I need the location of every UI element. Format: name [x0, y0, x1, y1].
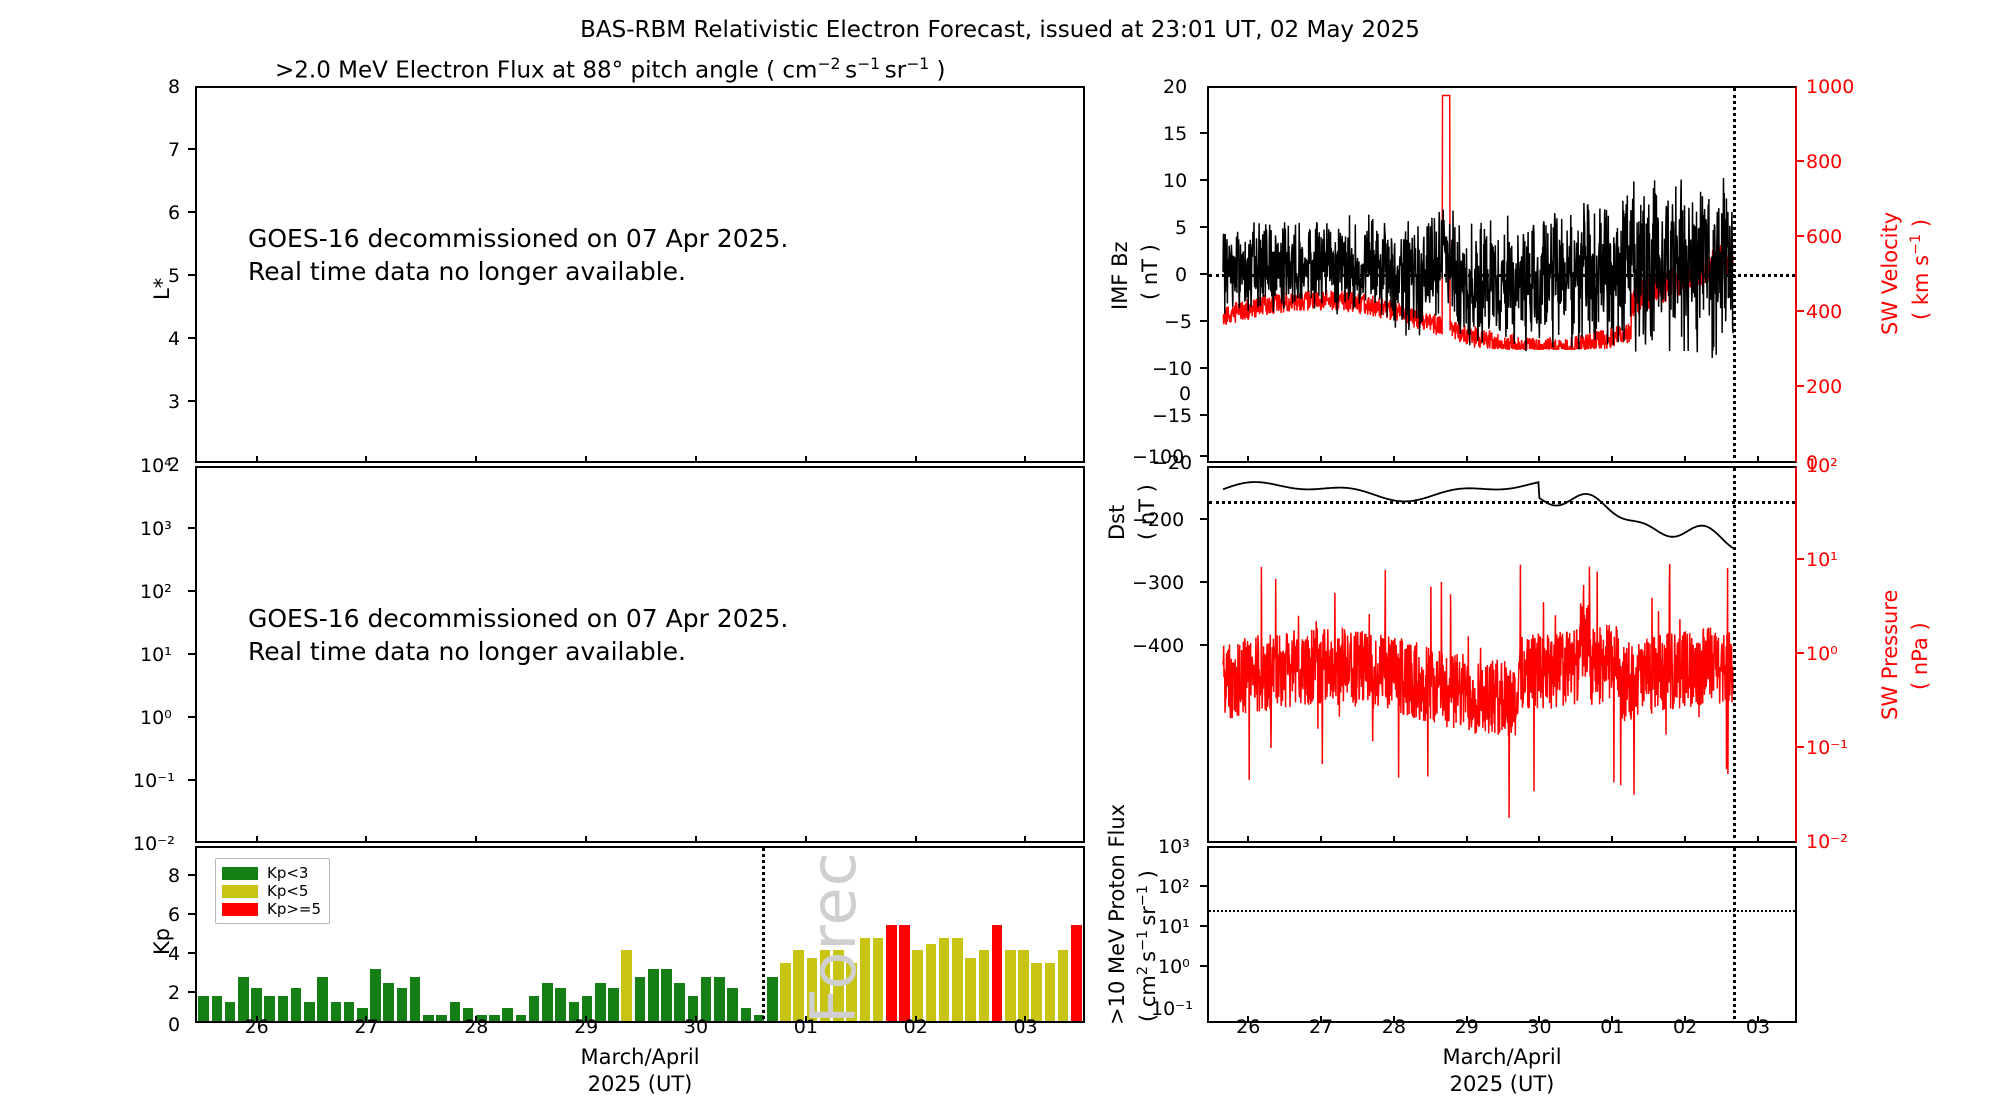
legend-swatch-yellow-icon [222, 885, 258, 898]
kp-bar [529, 996, 540, 1021]
kp-bar [621, 950, 632, 1021]
legend-item-kp-mid: Kp<5 [222, 882, 321, 900]
kp-bar [635, 977, 646, 1021]
kp-bar [304, 1002, 315, 1021]
dst-ytick-m400: −400 [1132, 637, 1184, 656]
bz-ytick-m5: −5 [1164, 313, 1192, 332]
dst-forecast-boundary-line [1733, 468, 1736, 843]
figure-root: BAS-RBM Relativistic Electron Forecast, … [0, 0, 2000, 1100]
legend-label-kp-high: Kp>=5 [267, 902, 321, 917]
kp-bar [331, 1002, 342, 1021]
kp-ytick-8: 8 [168, 867, 180, 886]
legend-swatch-green-icon [222, 867, 258, 880]
flux-no-data-message: GOES-16 decommissioned on 07 Apr 2025. R… [248, 602, 788, 668]
swp-ytick-1e2: 10² [1806, 457, 1838, 476]
kp-bar [608, 988, 619, 1021]
figure-title: BAS-RBM Relativistic Electron Forecast, … [0, 17, 2000, 43]
dst-ytick-m100: −100 [1132, 448, 1184, 467]
left-xaxis-label-line2: 2025 (UT) [195, 1072, 1085, 1096]
lstar-ytick-8: 8 [168, 78, 180, 97]
kp-bar [555, 988, 566, 1021]
kp-bar [212, 996, 223, 1021]
legend-label-kp-low: Kp<3 [267, 866, 308, 881]
dst-ytick-m300: −300 [1132, 574, 1184, 593]
bz-ytick-10: 10 [1163, 172, 1187, 191]
kp-bar [926, 944, 937, 1021]
kp-bar [278, 996, 289, 1021]
kp-bar [701, 977, 712, 1021]
kp-bar [489, 1015, 500, 1021]
kp-bar [291, 988, 302, 1021]
kp-forecast-boundary-line [762, 848, 765, 1023]
swv-ytick-400: 400 [1806, 303, 1842, 322]
imf-bz-axis-label-line1: IMF Bz [1108, 242, 1132, 311]
kp-bar [979, 950, 990, 1021]
kp-bar [661, 969, 672, 1021]
lstar-ytick-7: 7 [168, 141, 180, 160]
panel-imf-bz [1207, 86, 1797, 463]
swp-ytick-1em1: 10⁻¹ [1806, 739, 1848, 758]
proton-axis-label-line2: ( cm2 s−1 sr−1 ) [1135, 870, 1160, 1022]
legend-item-kp-high: Kp>=5 [222, 900, 321, 918]
kp-bar [714, 977, 725, 1021]
proton-ytick-1e1: 10¹ [1158, 918, 1190, 937]
kp-bar [741, 1008, 752, 1021]
kp-bar [317, 977, 328, 1021]
kp-bar [502, 1008, 513, 1021]
right-xaxis-label-line2: 2025 (UT) [1207, 1072, 1797, 1096]
legend-item-kp-low: Kp<3 [222, 864, 321, 882]
degree-symbol: ° [612, 58, 624, 84]
kp-ytick-2: 2 [168, 984, 180, 1003]
kp-bar [397, 988, 408, 1021]
kp-ytick-6: 6 [168, 906, 180, 925]
lstar-no-data-message: GOES-16 decommissioned on 07 Apr 2025. R… [248, 222, 788, 288]
kp-bar [344, 1002, 355, 1021]
swv-ytick-800: 800 [1806, 153, 1842, 172]
flux-ytick-1e3: 10³ [140, 520, 172, 539]
kp-bar [198, 996, 209, 1021]
kp-bar [542, 983, 553, 1021]
kp-bar [873, 938, 884, 1021]
kp-bar [899, 925, 910, 1021]
legend-swatch-red-icon [222, 903, 258, 916]
swv-ytick-1000: 1000 [1806, 78, 1854, 97]
lstar-ytick-3: 3 [168, 393, 180, 412]
proton-forecast-boundary-line [1733, 848, 1736, 1023]
panel-proton-flux [1207, 846, 1797, 1023]
subtitle-text-part: >2.0 MeV Electron Flux at 88 [275, 58, 612, 84]
kp-bar [1058, 950, 1069, 1021]
proton-ytick-1e0: 10⁰ [1158, 958, 1190, 977]
legend-label-kp-mid: Kp<5 [267, 884, 308, 899]
kp-bar [939, 938, 950, 1021]
flux-ytick-1em1: 10⁻¹ [133, 772, 175, 791]
sw-pressure-axis-label-line1: SW Pressure [1878, 590, 1902, 720]
dst-axis-label-line2: ( nT ) [1135, 484, 1159, 540]
sw-pressure-axis-label-line2: ( nPa ) [1908, 622, 1932, 690]
message-line-2: Real time data no longer available. [248, 257, 686, 286]
flux-ytick-1e1: 10¹ [140, 646, 172, 665]
kp-bar [648, 969, 659, 1021]
kp-bar [1005, 950, 1016, 1021]
swp-ytick-1em2: 10⁻² [1806, 833, 1848, 852]
sw-velocity-axis-label-line2: ( km s−1 ) [1908, 219, 1933, 320]
imf-bz-axis-label-line2: ( nT ) [1138, 244, 1162, 300]
kp-bar [450, 1002, 461, 1021]
kp-bar [1031, 963, 1042, 1021]
bz-ytick-m10: −10 [1152, 360, 1192, 379]
kp-bar [780, 963, 791, 1021]
bz-ytick-20: 20 [1163, 78, 1187, 97]
flux-ytick-1e4: 10⁴ [140, 457, 172, 476]
message-line-1: GOES-16 decommissioned on 07 Apr 2025. [248, 224, 788, 253]
kp-bar [965, 958, 976, 1021]
kp-bar [886, 925, 897, 1021]
lstar-ytick-4: 4 [168, 330, 180, 349]
flux-ytick-1e0: 10⁰ [140, 709, 172, 728]
dst-reference-line [1209, 501, 1795, 504]
swv-ytick-200: 200 [1806, 378, 1842, 397]
swp-ytick-1e1: 10¹ [1806, 551, 1838, 570]
kp-bar [370, 969, 381, 1021]
kp-bar [423, 1015, 434, 1021]
kp-ytick-0: 0 [168, 1016, 180, 1035]
kp-bar [383, 983, 394, 1021]
electron-flux-subtitle: >2.0 MeV Electron Flux at 88° pitch angl… [275, 54, 946, 84]
kp-axis-label: Kp [150, 928, 174, 955]
swp-ytick-1e0: 10⁰ [1806, 645, 1838, 664]
kp-bar [225, 1002, 236, 1021]
bz-ytick-5: 5 [1175, 219, 1187, 238]
proton-axis-label-line1: >10 MeV Proton Flux [1105, 804, 1129, 1025]
forecast-watermark: Forecast [797, 846, 870, 1023]
kp-bar [727, 988, 738, 1021]
flux-ytick-1e2: 10² [140, 583, 172, 602]
kp-bar [516, 1015, 527, 1021]
dst-plot-area [1209, 468, 1795, 841]
dst-ytick-0: 0 [1179, 385, 1191, 404]
proton-ytick-1e3: 10³ [1158, 838, 1190, 857]
kp-bar [238, 977, 249, 1021]
sw-velocity-axis-label-line1: SW Velocity [1878, 212, 1902, 335]
flux-ytick-1em2: 10⁻² [133, 835, 175, 854]
right-xaxis-label-line1: March/April [1207, 1045, 1797, 1069]
kp-legend: Kp<3 Kp<5 Kp>=5 [215, 858, 330, 924]
proton-ytick-1e2: 10² [1158, 878, 1190, 897]
lstar-axis-label: L* [150, 278, 174, 300]
kp-bar [1045, 963, 1056, 1021]
kp-bar [992, 925, 1003, 1021]
bz-ytick-15: 15 [1163, 125, 1187, 144]
bz-reference-line [1209, 274, 1795, 277]
swv-ytick-600: 600 [1806, 228, 1842, 247]
kp-bar [436, 1015, 447, 1021]
panel-dst [1207, 466, 1797, 843]
kp-bar [410, 977, 421, 1021]
proton-threshold-line [1209, 910, 1795, 912]
message-line-1: GOES-16 decommissioned on 07 Apr 2025. [248, 604, 788, 633]
dst-axis-label-line1: Dst [1105, 505, 1129, 540]
lstar-ytick-6: 6 [168, 204, 180, 223]
kp-bar [912, 950, 923, 1021]
kp-bar [767, 977, 778, 1021]
kp-bar [952, 938, 963, 1021]
left-xaxis-label-line1: March/April [195, 1045, 1085, 1069]
bz-ytick-0: 0 [1175, 266, 1187, 285]
kp-bar [1018, 950, 1029, 1021]
bz-forecast-boundary-line [1733, 88, 1736, 463]
message-line-2: Real time data no longer available. [248, 637, 686, 666]
bz-ytick-m15: −15 [1152, 407, 1192, 426]
kp-bar [1071, 925, 1082, 1021]
